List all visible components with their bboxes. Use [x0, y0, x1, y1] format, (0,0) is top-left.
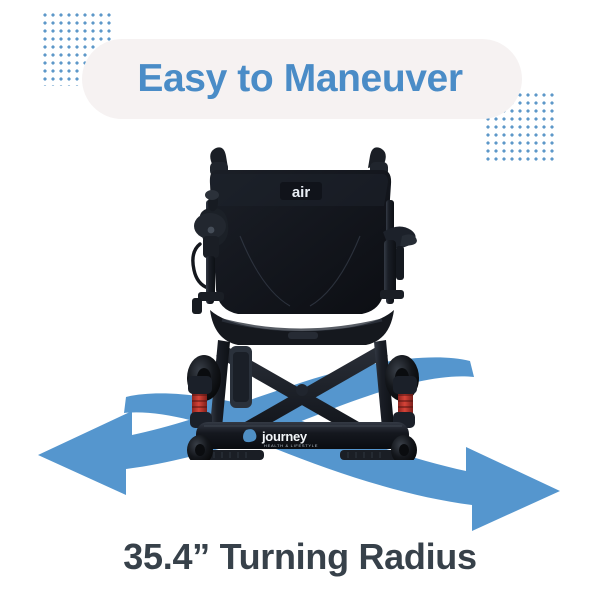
svg-text:air: air [292, 184, 311, 201]
backrest: air [210, 170, 391, 314]
product-photo: air [170, 140, 435, 460]
promo-card: Easy to Maneuver [0, 0, 600, 600]
seat-cushion [210, 310, 394, 345]
footrests [206, 450, 398, 460]
svg-text:HEALTH & LIFESTYLE: HEALTH & LIFESTYLE [264, 443, 318, 448]
right-armrest [380, 226, 417, 299]
caption-text: 35.4” Turning Radius [0, 533, 600, 581]
svg-text:journey: journey [261, 429, 308, 444]
page-title: Easy to Maneuver [0, 43, 600, 115]
backrest-logo: air [280, 182, 322, 201]
front-crossbar: journey HEALTH & LIFESTYLE [196, 422, 409, 449]
cross-frame [210, 340, 394, 436]
